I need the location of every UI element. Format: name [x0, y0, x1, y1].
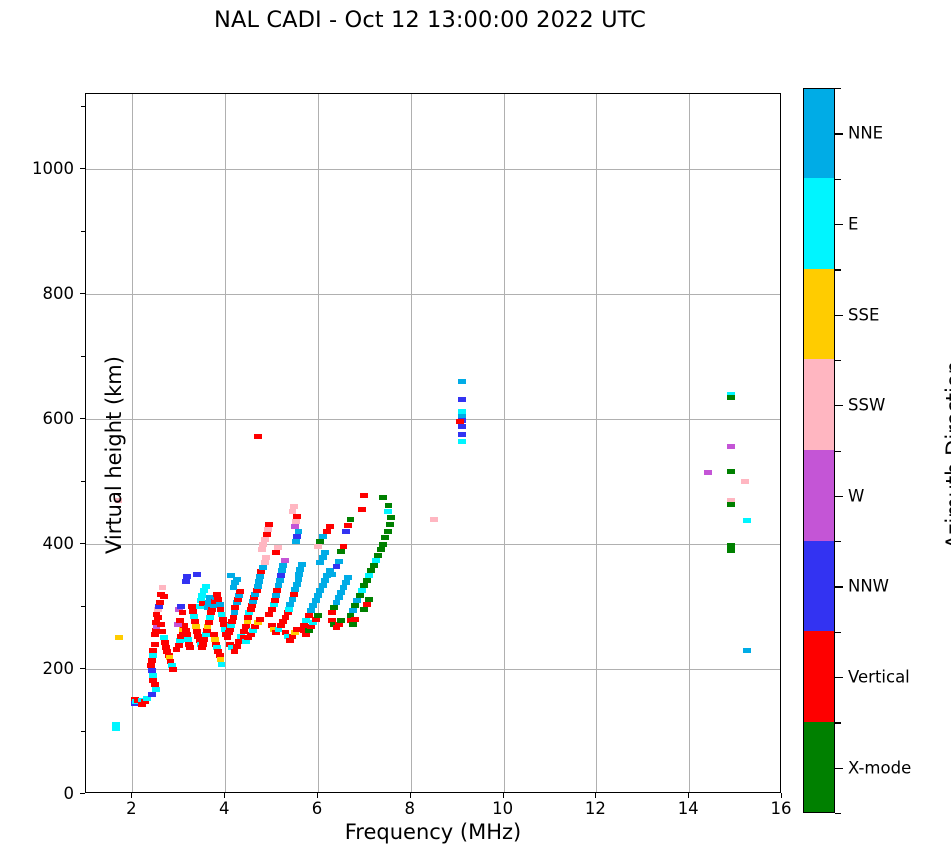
y-tick-label: 800 — [14, 284, 74, 303]
y-axis-tick — [80, 543, 85, 544]
x-axis-tick — [410, 793, 411, 798]
y-axis-minor-tick — [81, 606, 85, 607]
gridline-vertical — [132, 94, 133, 792]
data-point — [335, 559, 343, 564]
data-point — [138, 702, 146, 707]
colorbar-label-w: W — [848, 486, 864, 505]
colorbar-boundary-tick — [835, 179, 841, 180]
data-point — [727, 469, 735, 474]
data-point — [292, 539, 300, 544]
colorbar-tick — [835, 768, 843, 769]
gridline-horizontal — [86, 419, 780, 420]
data-point — [363, 602, 371, 607]
data-point — [244, 615, 252, 620]
colorbar[interactable] — [803, 88, 835, 813]
x-tick-label: 4 — [194, 799, 254, 818]
data-point — [314, 593, 322, 598]
data-point — [293, 534, 301, 539]
data-point — [263, 532, 271, 537]
data-point — [323, 529, 331, 534]
y-tick-label: 1000 — [14, 159, 74, 178]
data-point — [349, 622, 357, 627]
data-point — [385, 503, 393, 508]
data-point — [387, 515, 395, 520]
ionogram-figure: NAL CADI - Oct 12 13:00:00 2022 UTC 0200… — [0, 0, 951, 856]
data-point — [291, 587, 299, 592]
data-point — [351, 617, 359, 622]
data-point — [293, 582, 301, 587]
colorbar-boundary-tick — [835, 360, 841, 361]
data-point — [256, 617, 264, 622]
data-point — [259, 565, 267, 570]
figure-title: NAL CADI - Oct 12 13:00:00 2022 UTC — [0, 7, 860, 33]
gridline-vertical — [596, 94, 597, 792]
data-point — [347, 517, 355, 522]
colorbar-tick — [835, 677, 843, 678]
colorbar-label-vertical: Vertical — [848, 668, 910, 687]
data-point — [333, 564, 341, 569]
data-point — [143, 696, 151, 701]
data-point — [276, 578, 284, 583]
data-point — [148, 658, 156, 663]
data-point — [199, 642, 207, 647]
data-point — [356, 593, 364, 598]
x-tick-label: 10 — [473, 799, 533, 818]
data-point — [277, 573, 285, 578]
data-point — [198, 593, 206, 598]
data-point — [337, 549, 345, 554]
data-point — [296, 567, 304, 572]
data-point — [704, 470, 712, 475]
data-point — [177, 604, 185, 609]
plot-area[interactable] — [85, 93, 781, 793]
data-point — [179, 610, 187, 615]
colorbar-tick — [835, 586, 843, 587]
y-axis-tick — [80, 793, 85, 794]
y-axis-tick — [80, 418, 85, 419]
data-point — [326, 524, 334, 529]
data-point — [372, 558, 380, 563]
data-point — [289, 509, 297, 514]
data-point — [743, 518, 751, 523]
x-tick-label: 2 — [101, 799, 161, 818]
colorbar-label-ssw: SSW — [848, 396, 885, 415]
data-point — [344, 523, 352, 528]
gridline-vertical — [504, 94, 505, 792]
data-point — [206, 615, 214, 620]
colorbar-band-nne[interactable] — [804, 88, 834, 178]
y-tick-label-group: 02004006008001000 — [14, 85, 74, 801]
data-point — [285, 607, 293, 612]
data-point — [159, 585, 167, 590]
data-point — [290, 504, 298, 509]
data-point — [231, 605, 239, 610]
colorbar-boundary-tick — [835, 451, 841, 452]
colorbar-boundary-tick — [835, 541, 841, 542]
data-point — [353, 598, 361, 603]
data-point — [273, 588, 281, 593]
data-point — [272, 593, 280, 598]
data-point — [342, 529, 350, 534]
data-point — [160, 594, 168, 599]
data-point — [254, 434, 262, 439]
data-point — [328, 572, 336, 577]
data-point — [360, 607, 368, 612]
colorbar-boundary-tick — [835, 632, 841, 633]
data-point — [458, 424, 466, 429]
y-tick-label: 0 — [14, 784, 74, 803]
data-point — [230, 615, 238, 620]
data-point — [330, 605, 338, 610]
data-point — [289, 597, 297, 602]
colorbar-label-sse: SSE — [848, 305, 879, 324]
data-point — [295, 572, 303, 577]
data-point — [256, 574, 264, 579]
data-point — [149, 653, 157, 658]
y-axis-minor-tick — [81, 731, 85, 732]
data-point — [231, 610, 239, 615]
data-point — [202, 584, 210, 589]
x-axis-tick — [781, 793, 782, 798]
y-axis-minor-tick — [81, 231, 85, 232]
data-point — [264, 527, 272, 532]
y-axis-tick — [80, 668, 85, 669]
x-axis-tick — [688, 793, 689, 798]
data-point — [265, 612, 273, 617]
data-point — [316, 539, 324, 544]
data-point — [176, 638, 184, 643]
data-point — [265, 522, 273, 527]
data-point — [230, 585, 238, 590]
data-point — [151, 642, 159, 647]
data-point — [360, 493, 368, 498]
data-point — [344, 575, 352, 580]
data-point — [278, 568, 286, 573]
data-point — [218, 662, 226, 667]
data-point — [291, 524, 299, 529]
data-point — [316, 588, 324, 593]
data-point — [148, 692, 156, 697]
data-point — [258, 547, 266, 552]
data-point — [205, 620, 213, 625]
data-point — [333, 600, 341, 605]
data-point — [365, 597, 373, 602]
x-tick-label: 14 — [658, 799, 718, 818]
data-point — [328, 610, 336, 615]
data-point — [193, 572, 201, 577]
data-point — [319, 583, 327, 588]
x-axis-tick — [224, 793, 225, 798]
data-point — [312, 598, 320, 603]
colorbar-label-x-mode: X-mode — [848, 758, 911, 777]
colorbar-band-e[interactable] — [804, 178, 834, 269]
data-point — [255, 579, 263, 584]
data-point — [279, 563, 287, 568]
data-point — [335, 595, 343, 600]
y-axis-minor-tick — [81, 106, 85, 107]
data-point — [293, 514, 301, 519]
data-point — [159, 629, 167, 634]
data-point — [727, 502, 735, 507]
data-point — [286, 602, 294, 607]
data-point — [741, 479, 749, 484]
colorbar-band-sse[interactable] — [804, 269, 834, 360]
gridline-horizontal — [86, 294, 780, 295]
colorbar-boundary-tick — [835, 269, 841, 270]
data-point — [157, 622, 165, 627]
colorbar-label-nne: NNE — [848, 124, 883, 143]
data-point — [370, 563, 378, 568]
data-point — [321, 550, 329, 555]
y-tick-label: 600 — [14, 409, 74, 428]
colorbar-band-ssw[interactable] — [804, 359, 834, 450]
y-tick-label: 200 — [14, 659, 74, 678]
gridline-horizontal — [86, 169, 780, 170]
data-point — [272, 550, 280, 555]
data-point — [365, 573, 373, 578]
data-point — [342, 580, 350, 585]
gridline-horizontal — [86, 544, 780, 545]
colorbar-tick — [835, 133, 843, 134]
data-point — [262, 555, 270, 560]
data-point — [233, 644, 241, 649]
data-point — [349, 608, 357, 613]
data-point — [169, 667, 177, 672]
x-axis-tick — [595, 793, 596, 798]
data-point — [156, 600, 164, 605]
y-tick-label: 400 — [14, 534, 74, 553]
data-point — [309, 603, 317, 608]
colorbar-tick — [835, 405, 843, 406]
data-point — [319, 534, 327, 539]
x-tick-label: 12 — [565, 799, 625, 818]
data-point — [298, 562, 306, 567]
data-point — [381, 535, 389, 540]
data-point — [295, 577, 303, 582]
x-tick-label: 8 — [380, 799, 440, 818]
x-tick-label: 16 — [751, 799, 811, 818]
data-point — [384, 509, 392, 514]
data-point — [275, 583, 283, 588]
data-point — [337, 618, 345, 623]
data-point — [200, 637, 208, 642]
data-point — [743, 648, 751, 653]
data-point — [274, 545, 282, 550]
colorbar-label-nnw: NNW — [848, 577, 889, 596]
data-point — [316, 560, 324, 565]
data-point — [176, 618, 184, 623]
data-point — [182, 579, 190, 584]
data-point — [314, 613, 322, 618]
data-point — [261, 560, 269, 565]
data-point — [727, 548, 735, 553]
x-axis-tick — [317, 793, 318, 798]
x-axis-tick — [131, 793, 132, 798]
colorbar-title: Azimuth Direction — [942, 105, 951, 805]
colorbar-tick — [835, 496, 843, 497]
data-point — [261, 537, 269, 542]
data-point — [340, 544, 348, 549]
colorbar-boundary-tick — [835, 813, 841, 814]
colorbar-tick — [835, 315, 843, 316]
gridline-horizontal — [86, 669, 780, 670]
data-point — [379, 495, 387, 500]
gridline-vertical — [689, 94, 690, 792]
gridline-vertical — [318, 94, 319, 792]
x-tick-label: 6 — [287, 799, 347, 818]
data-point — [200, 588, 208, 593]
data-point — [430, 517, 438, 522]
data-point — [379, 542, 387, 547]
data-point — [259, 542, 267, 547]
colorbar-tick — [835, 224, 843, 225]
y-axis-title: Virtual height (km) — [102, 105, 126, 805]
data-point — [340, 585, 348, 590]
colorbar-band-w[interactable] — [804, 450, 834, 541]
gridline-vertical — [225, 94, 226, 792]
y-axis-tick — [80, 293, 85, 294]
data-point — [458, 379, 466, 384]
data-point — [290, 592, 298, 597]
data-point — [281, 558, 289, 563]
data-point — [153, 612, 161, 617]
data-point — [351, 603, 359, 608]
data-point — [319, 555, 327, 560]
data-point — [282, 615, 290, 620]
colorbar-band-nnw[interactable] — [804, 541, 834, 632]
x-axis-tick — [503, 793, 504, 798]
data-point — [374, 553, 382, 558]
x-axis-title: Frequency (MHz) — [85, 820, 781, 844]
y-axis-minor-tick — [81, 356, 85, 357]
data-point — [254, 584, 262, 589]
y-axis-tick — [80, 168, 85, 169]
data-point — [458, 439, 466, 444]
data-point — [295, 529, 303, 534]
y-axis-minor-tick — [81, 481, 85, 482]
data-point — [358, 588, 366, 593]
data-point — [458, 397, 466, 402]
data-point — [175, 643, 183, 648]
data-point — [337, 590, 345, 595]
data-point — [358, 507, 366, 512]
data-point — [151, 632, 159, 637]
data-point — [186, 645, 194, 650]
data-point — [183, 574, 191, 579]
data-point — [360, 583, 368, 588]
gridline-vertical — [411, 94, 412, 792]
data-point — [227, 573, 235, 578]
data-point — [384, 529, 392, 534]
data-point — [727, 444, 735, 449]
data-point — [363, 578, 371, 583]
data-point — [727, 395, 735, 400]
data-point — [386, 522, 394, 527]
data-point — [292, 519, 300, 524]
data-point — [231, 649, 239, 654]
data-point — [458, 432, 466, 437]
colorbar-boundary-tick — [835, 722, 841, 723]
data-point — [271, 598, 279, 603]
data-point — [268, 607, 276, 612]
colorbar-label-e: E — [848, 214, 858, 233]
colorbar-band-vertical[interactable] — [804, 631, 834, 722]
data-point — [367, 568, 375, 573]
data-point — [224, 635, 232, 640]
data-point — [314, 544, 322, 549]
colorbar-boundary-tick — [835, 88, 841, 89]
data-point — [377, 547, 385, 552]
data-point — [321, 578, 329, 583]
